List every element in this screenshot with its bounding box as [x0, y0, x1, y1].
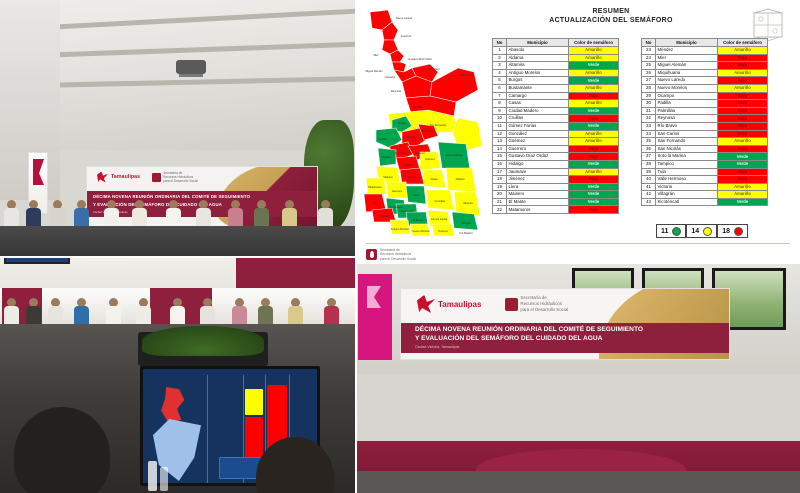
cell-municipio: Abasolo	[507, 47, 569, 55]
svg-text:Padilla: Padilla	[404, 163, 412, 167]
table-row: 1AbasoloAmarillo	[493, 47, 619, 55]
cell-no: 16	[493, 160, 507, 168]
monitor-map-red-area	[161, 387, 187, 425]
cell-municipio: Güémez	[507, 138, 569, 146]
cell-municipio: Soto la Marina	[656, 153, 718, 161]
table-row: 8CasasAmarillo	[493, 100, 619, 108]
cell-color-semaforo: Verde	[569, 160, 619, 168]
table-row: 26MiquihuanaAmarillo	[642, 69, 768, 77]
cell-municipio: Miguel Alemán	[656, 62, 718, 70]
cell-municipio: Padilla	[656, 100, 718, 108]
svg-text:Gustavo Díaz Ordaz: Gustavo Díaz Ordaz	[408, 57, 432, 61]
srhds-logo: Secretaría de Recursos Hidráulicos para …	[152, 171, 198, 183]
collage-divider-horizontal	[0, 256, 356, 258]
cell-no: 6	[493, 84, 507, 92]
attendee	[104, 200, 119, 226]
svg-text:Aldama: Aldama	[456, 177, 465, 181]
svg-text:Abasolo: Abasolo	[381, 155, 391, 159]
wall-screen	[4, 258, 70, 264]
svg-text:Méndez: Méndez	[413, 105, 423, 109]
cell-no: 11	[493, 122, 507, 130]
table-row: 39TulaRojo	[642, 168, 768, 176]
cell-color-semaforo: Verde	[569, 122, 619, 130]
cell-municipio: Mier	[656, 54, 718, 62]
photo-room-monitor	[0, 258, 356, 493]
legend-count: 18	[722, 228, 730, 235]
tamaulipas-logo: Tamaulipas	[417, 295, 481, 313]
cell-color-semaforo: Amarillo	[569, 138, 619, 146]
cell-no: 34	[642, 130, 656, 138]
table-row: 7CamargoRojo	[493, 92, 619, 100]
srhds-seal-icon	[152, 173, 161, 182]
cell-municipio: Jaumave	[507, 168, 569, 176]
attendee	[170, 298, 185, 324]
svg-text:Villagrán: Villagrán	[407, 135, 418, 139]
projector	[176, 60, 206, 74]
cell-color-semaforo: Verde	[569, 191, 619, 199]
th-no: No	[493, 39, 507, 47]
cell-color-semaforo: Rojo	[569, 115, 619, 123]
svg-text:Ocampo: Ocampo	[438, 229, 448, 233]
cell-color-semaforo: Verde	[718, 160, 768, 168]
cell-no: 21	[493, 198, 507, 206]
table-row: 27Nuevo LaredoRojo	[642, 77, 768, 85]
cell-color-semaforo: Verde	[569, 77, 619, 85]
cell-no: 39	[642, 168, 656, 176]
cell-color-semaforo: Amarillo	[718, 69, 768, 77]
cell-color-semaforo: Verde	[718, 153, 768, 161]
presentation-slide: RESUMEN ACTUALIZACIÓN DEL SEMÁFORO	[356, 0, 800, 264]
banner-title-line2: Y EVALUACIÓN DEL SEMÁFORO DEL CUIDADO DE…	[415, 335, 602, 342]
th-municipio: Municipio	[507, 39, 569, 47]
svg-text:Gómez Farías: Gómez Farías	[431, 217, 448, 221]
cell-no: 17	[493, 168, 507, 176]
cell-color-semaforo: Rojo	[569, 176, 619, 184]
attendee	[282, 200, 297, 226]
table-row: 22MatamorosRojo	[493, 206, 619, 214]
mapa-tamaulipas: Nuevo Laredo Guerrero Mier Gustavo Díaz …	[362, 6, 490, 246]
slide-footer-logo: Secretaría de Recursos Hidráulicos para …	[366, 248, 416, 261]
cell-municipio: Victoria	[656, 183, 718, 191]
cell-municipio: Bustamante	[507, 84, 569, 92]
tamaulipas-bird-icon	[417, 295, 435, 313]
table-row: 43XicoténcatlVerde	[642, 198, 768, 206]
table-row: 36San NicolásRojo	[642, 145, 768, 153]
svg-text:Cd. Madero: Cd. Madero	[459, 231, 473, 235]
cell-no: 2	[493, 54, 507, 62]
slide-title-line2: ACTUALIZACIÓN DEL SEMÁFORO	[486, 17, 736, 24]
cell-no: 18	[493, 176, 507, 184]
table-row: 40Valle HermosoRojo	[642, 176, 768, 184]
attendee	[4, 200, 19, 226]
mun-tampico	[452, 212, 478, 230]
cell-color-semaforo: Verde	[569, 62, 619, 70]
banner-subtitle: Ciudad Victoria, Tamaulipas	[415, 345, 459, 349]
svg-text:Camargo: Camargo	[385, 75, 396, 79]
attendee	[324, 298, 339, 324]
cell-municipio: Hidalgo	[507, 160, 569, 168]
svg-text:Jaumave: Jaumave	[392, 189, 403, 193]
svg-text:Palmillas: Palmillas	[379, 214, 390, 218]
svg-text:Guerrero: Guerrero	[401, 34, 412, 38]
srhds-name: Secretaría de Recursos Hidráulicos para …	[380, 248, 416, 261]
svg-text:San Carlos: San Carlos	[422, 129, 436, 133]
banner-logos: Tamaulipas Secretaría de Recursos Hidráu…	[417, 295, 568, 313]
table-row: 42VillagránAmarillo	[642, 191, 768, 199]
cell-color-semaforo: Amarillo	[718, 47, 768, 55]
table-row: 25Miguel AlemánRojo	[642, 62, 768, 70]
svg-text:San Fernando: San Fernando	[430, 123, 447, 127]
table-row: 23MéndezAmarillo	[642, 47, 768, 55]
th-color: Color de semáforo	[569, 39, 619, 47]
cell-color-semaforo: Rojo	[718, 62, 768, 70]
cell-no: 20	[493, 191, 507, 199]
tamaulipas-logo: Tamaulipas	[97, 172, 140, 183]
cell-municipio: Nuevo Morelos	[656, 84, 718, 92]
cell-no: 7	[493, 92, 507, 100]
cell-municipio: Nuevo Laredo	[656, 77, 718, 85]
svg-text:Güémez: Güémez	[425, 157, 436, 161]
cell-municipio: San Carlos	[656, 130, 718, 138]
srhds-seal-icon	[505, 298, 518, 311]
legend-item-amarillo: 14	[686, 224, 717, 238]
table-row: 30PadillaRojo	[642, 100, 768, 108]
cell-no: 33	[642, 122, 656, 130]
cell-color-semaforo: Rojo	[718, 100, 768, 108]
table-row: 17JaumaveAmarillo	[493, 168, 619, 176]
water-bottle	[148, 461, 157, 491]
attendee	[48, 298, 63, 324]
srhds-logo: Secretaría de Recursos Hidráulicos para …	[505, 295, 568, 312]
table-row: 14GuerreroRojo	[493, 145, 619, 153]
attendee	[228, 200, 243, 226]
svg-text:Burgos: Burgos	[398, 121, 407, 125]
banner-title-line1: DÉCIMA NOVENA REUNIÓN ORDINARIA DEL COMI…	[93, 194, 250, 199]
cell-municipio: Cruillas	[507, 115, 569, 123]
table-row: 9Ciudad MaderoVerde	[493, 107, 619, 115]
svg-text:Antiguo Morelos: Antiguo Morelos	[391, 227, 410, 231]
cell-color-semaforo: Rojo	[718, 122, 768, 130]
attendee	[196, 200, 211, 226]
cell-no: 13	[493, 138, 507, 146]
table-row: 10CruillasRojo	[493, 115, 619, 123]
slide-title-line1: RESUMEN	[486, 8, 736, 15]
attendee	[50, 200, 65, 226]
cell-color-semaforo: Amarillo	[718, 191, 768, 199]
svg-text:Mainero: Mainero	[383, 175, 393, 179]
cell-color-semaforo: Rojo	[569, 153, 619, 161]
table-row: 34San CarlosRojo	[642, 130, 768, 138]
cell-color-semaforo: Rojo	[718, 145, 768, 153]
cell-color-semaforo: Amarillo	[569, 100, 619, 108]
table-row: 33Río BravoRojo	[642, 122, 768, 130]
table-row: 13GüémezAmarillo	[493, 138, 619, 146]
svg-text:Matamoros: Matamoros	[460, 73, 474, 77]
photo-meeting-room: Tamaulipas Secretaría de Recursos Hidráu…	[0, 0, 356, 270]
cell-no: 24	[642, 54, 656, 62]
svg-text:Reynosa: Reynosa	[391, 89, 402, 93]
cell-municipio: Valle Hermoso	[656, 176, 718, 184]
svg-text:Mier: Mier	[373, 53, 378, 57]
foreground-person	[14, 407, 110, 493]
cell-municipio: Mainero	[507, 191, 569, 199]
cell-no: 32	[642, 115, 656, 123]
stage-floor	[356, 471, 800, 493]
cell-no: 10	[493, 115, 507, 123]
tamaulipas-bird-icon	[97, 172, 108, 183]
table-row: 31PalmillasRojo	[642, 107, 768, 115]
cell-no: 23	[642, 47, 656, 55]
table-row: 18JiménezRojo	[493, 176, 619, 184]
cell-municipio: Aldama	[507, 54, 569, 62]
mun-antiguo-morelos	[390, 220, 410, 234]
legend-count: 11	[661, 228, 668, 235]
cell-municipio: Reynosa	[656, 115, 718, 123]
table-row: 19LleraVerde	[493, 183, 619, 191]
legend-count: 14	[691, 228, 699, 235]
table-row: 2AldamaAmarillo	[493, 54, 619, 62]
svg-text:Jiménez: Jiménez	[415, 151, 425, 155]
cell-municipio: Casas	[507, 100, 569, 108]
banner-title-strip: DÉCIMA NOVENA REUNIÓN ORDINARIA DEL COMI…	[401, 323, 729, 353]
attendee	[26, 298, 41, 324]
cell-color-semaforo: Rojo	[718, 176, 768, 184]
cell-no: 26	[642, 69, 656, 77]
attendee	[166, 200, 181, 226]
table-row: 20MaineroVerde	[493, 191, 619, 199]
cell-color-semaforo: Verde	[569, 107, 619, 115]
svg-text:Nuevo Morelos: Nuevo Morelos	[412, 229, 430, 233]
cell-municipio: Matamoros	[507, 206, 569, 214]
cell-municipio: Xicoténcatl	[656, 198, 718, 206]
cell-municipio: Miquihuana	[656, 69, 718, 77]
photo-group-portrait: Tamaulipas Secretaría de Recursos Hidráu…	[356, 264, 800, 493]
cell-municipio: Río Bravo	[656, 122, 718, 130]
attendee	[200, 298, 215, 324]
cell-no: 38	[642, 160, 656, 168]
table-row: 5BurgosVerde	[493, 77, 619, 85]
cell-color-semaforo: Rojo	[569, 145, 619, 153]
th-no: No	[642, 39, 656, 47]
group-of-people	[356, 350, 800, 445]
cell-municipio: Altamira	[507, 62, 569, 70]
monitor-map	[151, 377, 203, 477]
cell-color-semaforo: Amarillo	[718, 183, 768, 191]
svg-text:Xicoténcatl: Xicoténcatl	[401, 209, 414, 213]
cell-municipio: González	[507, 130, 569, 138]
svg-text:Río Bravo: Río Bravo	[428, 67, 440, 71]
cell-color-semaforo: Amarillo	[569, 84, 619, 92]
cell-color-semaforo: Rojo	[718, 77, 768, 85]
attendee	[132, 200, 147, 226]
cell-municipio: San Fernando	[656, 138, 718, 146]
attendee	[254, 200, 269, 226]
collage-divider-vertical	[355, 0, 357, 493]
tabla-municipios-izquierda: No Municipio Color de semáforo 1AbasoloA…	[492, 38, 619, 214]
cell-no: 42	[642, 191, 656, 199]
screenshot-collage: Tamaulipas Secretaría de Recursos Hidráu…	[0, 0, 800, 493]
svg-text:Cruillas: Cruillas	[378, 137, 387, 141]
cell-no: 4	[493, 69, 507, 77]
cell-municipio: Tampico	[656, 160, 718, 168]
cell-municipio: Camargo	[507, 92, 569, 100]
cell-color-semaforo: Amarillo	[569, 130, 619, 138]
svg-text:Nuevo Laredo: Nuevo Laredo	[396, 16, 413, 20]
svg-text:Tampico: Tampico	[461, 221, 471, 225]
cell-color-semaforo: Rojo	[718, 54, 768, 62]
attendee	[74, 200, 89, 226]
table-row: 16HidalgoVerde	[493, 160, 619, 168]
cell-color-semaforo: Rojo	[718, 168, 768, 176]
cell-no: 43	[642, 198, 656, 206]
legend-dot-amarillo	[703, 227, 712, 236]
svg-text:Bustamante: Bustamante	[389, 205, 403, 209]
cell-color-semaforo: Amarillo	[569, 54, 619, 62]
cell-no: 8	[493, 100, 507, 108]
plants	[142, 326, 264, 356]
attendee	[74, 298, 89, 324]
srhds-name: Secretaría de Recursos Hidráulicos para …	[163, 171, 198, 183]
table-row: 41VictoriaAmarillo	[642, 183, 768, 191]
table-row: 3AltamiraVerde	[493, 62, 619, 70]
cell-municipio: Ocampo	[656, 92, 718, 100]
svg-text:González: González	[435, 199, 447, 203]
pink-standee	[358, 274, 392, 360]
cell-no: 35	[642, 138, 656, 146]
srhds-seal-icon	[366, 249, 377, 260]
attendee	[288, 298, 303, 324]
cell-color-semaforo: Verde	[569, 183, 619, 191]
table-row: 35San FernandoAmarillo	[642, 138, 768, 146]
cell-municipio: Llera	[507, 183, 569, 191]
legend-item-rojo: 18	[717, 224, 748, 238]
table-header-row: No Municipio Color de semáforo	[493, 39, 619, 47]
svg-text:El Mante: El Mante	[413, 218, 424, 222]
attendee	[136, 298, 151, 324]
cell-color-semaforo: Verde	[569, 198, 619, 206]
svg-text:Miquihuana: Miquihuana	[368, 185, 382, 189]
legend-dot-rojo	[734, 227, 743, 236]
table-header-row: No Municipio Color de semáforo	[642, 39, 768, 47]
th-color: Color de semáforo	[718, 39, 768, 47]
cell-municipio: Ciudad Madero	[507, 107, 569, 115]
cell-no: 15	[493, 153, 507, 161]
cell-no: 27	[642, 77, 656, 85]
cell-no: 22	[493, 206, 507, 214]
table-row: 11Gómez FaríasVerde	[493, 122, 619, 130]
cell-no: 40	[642, 176, 656, 184]
water-bottle	[160, 467, 168, 491]
table-row: 37Soto la MarinaVerde	[642, 153, 768, 161]
table-row: 38TampicoVerde	[642, 160, 768, 168]
svg-text:Miguel Alemán: Miguel Alemán	[365, 69, 383, 73]
cell-color-semaforo: Verde	[718, 198, 768, 206]
cell-municipio: Jiménez	[507, 176, 569, 184]
table-row: 32ReynosaRojo	[642, 115, 768, 123]
cell-color-semaforo: Amarillo	[718, 84, 768, 92]
cell-no: 28	[642, 84, 656, 92]
cell-no: 3	[493, 62, 507, 70]
attendee	[106, 298, 121, 324]
cell-color-semaforo: Rojo	[569, 206, 619, 214]
cell-color-semaforo: Amarillo	[569, 47, 619, 55]
tamaulipas-wordmark: Tamaulipas	[111, 174, 140, 180]
table-row: 28Nuevo MorelosAmarillo	[642, 84, 768, 92]
table-row: 29OcampoRojo	[642, 92, 768, 100]
cell-municipio: San Nicolás	[656, 145, 718, 153]
cell-no: 36	[642, 145, 656, 153]
cell-color-semaforo: Rojo	[718, 92, 768, 100]
slide-title: RESUMEN ACTUALIZACIÓN DEL SEMÁFORO	[486, 8, 736, 24]
cell-color-semaforo: Rojo	[569, 92, 619, 100]
cell-color-semaforo: Rojo	[718, 107, 768, 115]
table-row: 6BustamanteAmarillo	[493, 84, 619, 92]
cell-no: 9	[493, 107, 507, 115]
cell-no: 41	[642, 183, 656, 191]
cell-color-semaforo: Amarillo	[718, 138, 768, 146]
cell-color-semaforo: Amarillo	[569, 168, 619, 176]
legend-item-verde: 11	[656, 224, 686, 238]
svg-text:Llera: Llera	[413, 193, 419, 197]
cell-municipio: Guerrero	[507, 145, 569, 153]
svg-text:Soto la Marina: Soto la Marina	[446, 153, 463, 157]
cell-no: 14	[493, 145, 507, 153]
attendee	[4, 298, 19, 324]
cell-municipio: El Mante	[507, 198, 569, 206]
cell-municipio: Palmillas	[656, 107, 718, 115]
collage-divider-horizontal	[356, 262, 800, 264]
attendee	[258, 298, 273, 324]
table-row: 15Gustavo Díaz OrdazRojo	[493, 153, 619, 161]
cell-color-semaforo: Rojo	[718, 130, 768, 138]
svg-text:Casas: Casas	[430, 177, 438, 181]
table-row: 21El ManteVerde	[493, 198, 619, 206]
srhds-name: Secretaría de Recursos Hidráulicos para …	[520, 295, 568, 312]
banner-logos: Tamaulipas Secretaría de Recursos Hidráu…	[97, 171, 198, 183]
cell-municipio: Gustavo Díaz Ordaz	[507, 153, 569, 161]
cell-no: 25	[642, 62, 656, 70]
attendee	[318, 200, 333, 226]
cell-color-semaforo: Rojo	[718, 115, 768, 123]
svg-text:San Nicolás: San Nicolás	[395, 151, 410, 155]
tamaulipas-wordmark: Tamaulipas	[438, 300, 481, 309]
escudo-tamaulipas-icon	[748, 8, 788, 42]
cell-municipio: Villagrán	[656, 191, 718, 199]
cell-no: 31	[642, 107, 656, 115]
table-row: 24MierRojo	[642, 54, 768, 62]
semaforo-legend: 111418	[656, 224, 748, 238]
table-row: 4Antiguo MorelosAmarillo	[493, 69, 619, 77]
cell-no: 5	[493, 77, 507, 85]
th-municipio: Municipio	[656, 39, 718, 47]
tabla-municipios-derecha: No Municipio Color de semáforo 23MéndezA…	[641, 38, 768, 206]
cell-no: 37	[642, 153, 656, 161]
cell-municipio: Méndez	[656, 47, 718, 55]
table-row: 12GonzálezAmarillo	[493, 130, 619, 138]
cell-municipio: Gómez Farías	[507, 122, 569, 130]
legend-dot-verde	[672, 227, 681, 236]
attendee	[26, 200, 41, 226]
cell-no: 19	[493, 183, 507, 191]
cell-municipio: Antiguo Morelos	[507, 69, 569, 77]
cell-municipio: Burgos	[507, 77, 569, 85]
cell-no: 1	[493, 47, 507, 55]
cell-no: 29	[642, 92, 656, 100]
cell-no: 30	[642, 100, 656, 108]
cell-color-semaforo: Amarillo	[569, 69, 619, 77]
svg-text:Tula: Tula	[373, 201, 379, 205]
cell-municipio: Tula	[656, 168, 718, 176]
